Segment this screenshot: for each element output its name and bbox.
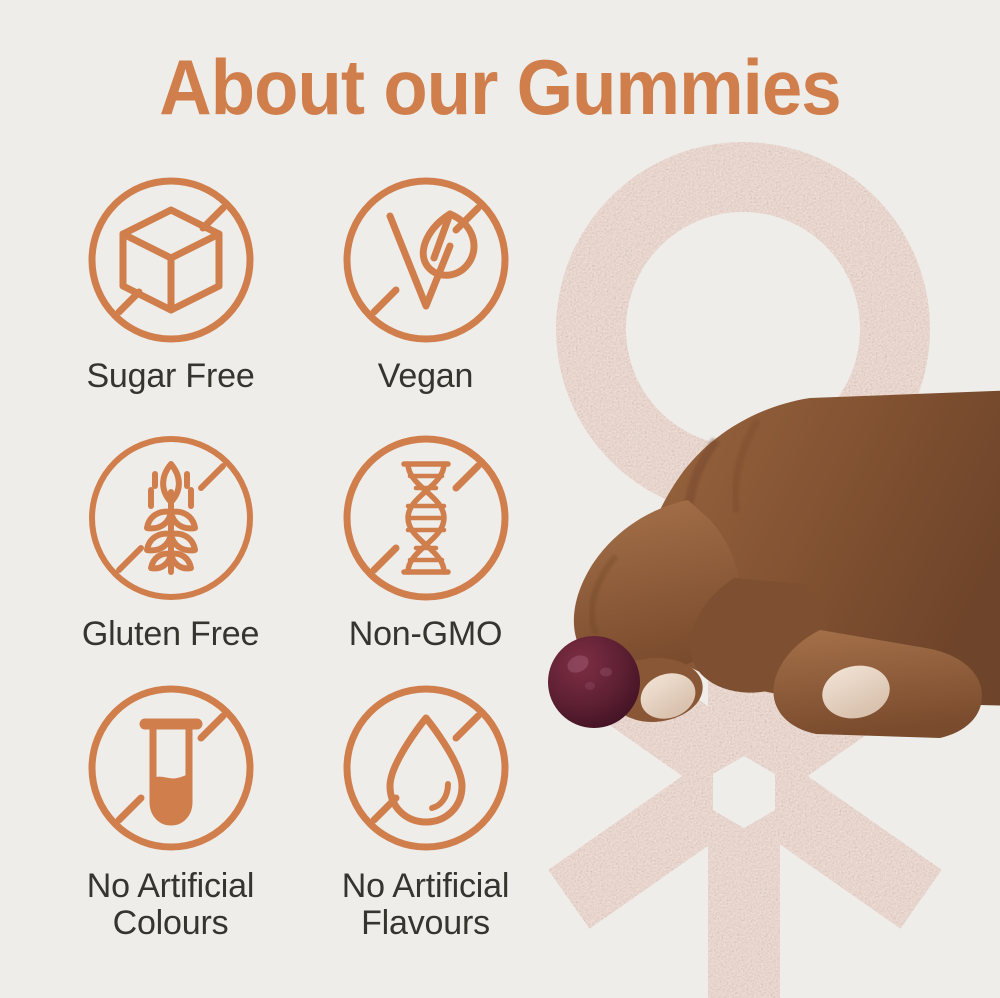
wheat-icon (83, 430, 259, 606)
badge-sugar-free: Sugar Free (48, 172, 293, 430)
index-nail (634, 666, 702, 726)
badge-no-artificial-colours: No Artificial Colours (48, 680, 293, 941)
badge-gluten-free: Gluten Free (48, 430, 293, 680)
dna-helix-icon (338, 430, 514, 606)
badge-label: Gluten Free (82, 616, 259, 653)
thumb-nail (817, 659, 894, 724)
badge-label: Vegan (378, 358, 473, 395)
venus-symbol-shape (548, 142, 942, 998)
knuckle-shade-2 (735, 420, 758, 512)
badge-label: No Artificial Flavours (342, 868, 509, 941)
thumb (773, 630, 982, 738)
hand-back (640, 390, 1000, 706)
benefits-grid: Sugar Free Vegan (48, 172, 548, 941)
middle-finger (690, 578, 827, 693)
round-purple-gummy (548, 636, 640, 728)
badge-label: Sugar Free (86, 358, 254, 395)
female-symbol-graphic (540, 120, 1000, 998)
test-tube-icon (83, 680, 259, 856)
symbol-stem (708, 512, 780, 998)
infographic-canvas: About our Gummies Sugar Free (0, 0, 1000, 998)
page-title: About our Gummies (35, 48, 965, 126)
symbol-bar-right (548, 623, 942, 929)
sugar-cube-icon (83, 172, 259, 348)
badge-label: No Artificial Colours (87, 868, 254, 941)
hand-holding-gummy (520, 380, 1000, 740)
finger-crease (592, 556, 616, 634)
index-fingertip (610, 658, 703, 722)
water-drop-icon (338, 680, 514, 856)
knuckle-shade (688, 440, 726, 590)
badge-no-artificial-flavours: No Artificial Flavours (303, 680, 548, 941)
leaf-v-icon (338, 172, 514, 348)
badge-vegan: Vegan (303, 172, 548, 430)
symbol-bar-left (548, 623, 942, 929)
index-finger (574, 500, 739, 677)
badge-non-gmo: Non-GMO (303, 430, 548, 680)
badge-label: Non-GMO (349, 616, 503, 653)
symbol-center-hole (713, 756, 775, 828)
symbol-ring (556, 142, 930, 516)
